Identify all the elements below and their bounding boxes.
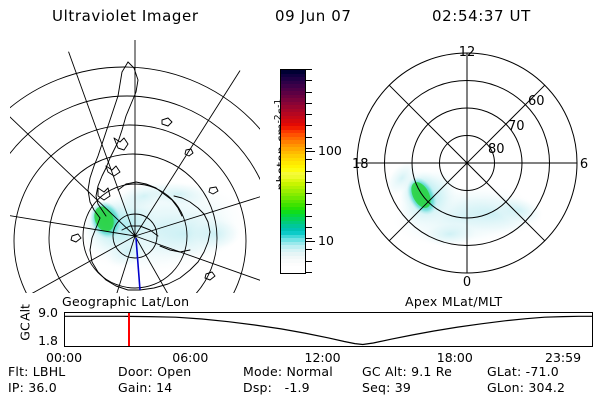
status-field-label: GLon: bbox=[487, 380, 528, 395]
colorbar-minor-tick bbox=[306, 238, 312, 239]
timeline-curve-svg bbox=[65, 313, 592, 346]
mlt-spokes bbox=[357, 53, 577, 273]
timeline-xtick-label: 12:00 bbox=[305, 350, 341, 365]
geographic-plot[interactable] bbox=[10, 38, 260, 293]
magnetic-plot-svg: 12 6 0 18 60 70 80 bbox=[342, 38, 592, 293]
status-field-label: Flt: bbox=[8, 364, 33, 379]
status-field-label: Mode: bbox=[243, 364, 286, 379]
colorbar-minor-tick bbox=[306, 103, 312, 104]
colorbar-minor-tick bbox=[306, 227, 312, 228]
status-field-label: IP: bbox=[8, 380, 28, 395]
status-field: GC Alt: 9.1 Re bbox=[362, 364, 452, 379]
colorbar-minor-tick bbox=[306, 159, 312, 160]
header-bar: Ultraviolet Imager 09 Jun 07 02:54:37 UT bbox=[0, 5, 600, 29]
colorbar-minor-tick bbox=[306, 80, 312, 81]
status-field: Gain: 14 bbox=[118, 380, 172, 395]
uv-imager-window: Ultraviolet Imager 09 Jun 07 02:54:37 UT bbox=[0, 0, 600, 400]
colorbar-minor-tick bbox=[306, 204, 312, 205]
colorbar-minor-tick bbox=[306, 69, 312, 70]
mlat-label-70: 70 bbox=[508, 119, 525, 134]
colorbar[interactable]: photon cm-2s-1 10010 bbox=[258, 45, 348, 295]
colorbar-minor-tick bbox=[306, 182, 312, 183]
timeline-ytick-low: 1.8 bbox=[28, 333, 58, 348]
status-field: GLat: -71.0 bbox=[487, 364, 559, 379]
timeline-xtick-label: 00:00 bbox=[46, 350, 82, 365]
timeline-ytick-high: 9.0 bbox=[28, 305, 58, 320]
status-field-value: -1.9 bbox=[276, 380, 310, 395]
colorbar-minor-tick bbox=[306, 272, 312, 273]
status-field-label: Seq: bbox=[362, 380, 395, 395]
mlt-label-0: 0 bbox=[463, 275, 471, 290]
colorbar-minor-tick bbox=[306, 114, 312, 115]
mlt-label-12: 12 bbox=[459, 45, 476, 60]
colorbar-tick-label: 100 bbox=[318, 143, 342, 158]
altitude-timeline[interactable]: Alt GC 9.0 1.8 00:0006:0012:0018:0023:59 bbox=[0, 300, 600, 358]
colorbar-segment bbox=[281, 270, 305, 274]
status-field-value: -71.0 bbox=[526, 364, 559, 379]
status-field-value: 36.0 bbox=[28, 380, 57, 395]
colorbar-minor-tick bbox=[306, 148, 312, 149]
geographic-plot-svg bbox=[10, 38, 260, 293]
colorbar-minor-tick bbox=[306, 216, 312, 217]
status-field: Flt: LBHL bbox=[8, 364, 65, 379]
status-field-label: Door: bbox=[118, 364, 157, 379]
colorbar-tick-label: 10 bbox=[318, 233, 334, 248]
status-field: Door: Open bbox=[118, 364, 191, 379]
status-field-value: 39 bbox=[395, 380, 411, 395]
mlt-label-6: 6 bbox=[580, 157, 588, 172]
status-bar: Flt: LBHLDoor: OpenMode: NormalGC Alt: 9… bbox=[0, 364, 600, 398]
status-field: GLon: 304.2 bbox=[487, 380, 565, 395]
mlat-label-80: 80 bbox=[488, 142, 505, 157]
colorbar-major-tick bbox=[306, 151, 315, 152]
colorbar-minor-tick bbox=[306, 261, 312, 262]
status-field: Mode: Normal bbox=[243, 364, 333, 379]
timeline-frame bbox=[64, 312, 593, 347]
status-field: Seq: 39 bbox=[362, 380, 411, 395]
colorbar-major-tick bbox=[306, 241, 315, 242]
status-field-label: Gain: bbox=[118, 380, 156, 395]
status-field-value: Open bbox=[157, 364, 191, 379]
status-field: Dsp: -1.9 bbox=[243, 380, 310, 395]
status-field-value: LBHL bbox=[33, 364, 66, 379]
mlt-label-18: 18 bbox=[352, 157, 369, 172]
colorbar-minor-tick bbox=[306, 92, 312, 93]
timeline-current-time-marker[interactable] bbox=[128, 313, 130, 346]
status-field-label: GLat: bbox=[487, 364, 526, 379]
colorbar-minor-tick bbox=[306, 171, 312, 172]
magnetic-plot[interactable]: 12 6 0 18 60 70 80 bbox=[342, 38, 592, 293]
colorbar-minor-tick bbox=[306, 137, 312, 138]
colorbar-minor-tick bbox=[306, 125, 312, 126]
colorbar-minor-tick bbox=[306, 193, 312, 194]
mlat-label-60: 60 bbox=[528, 94, 545, 109]
observation-date: 09 Jun 07 bbox=[275, 7, 352, 25]
status-field: IP: 36.0 bbox=[8, 380, 57, 395]
status-field-value: 9.1 Re bbox=[411, 364, 452, 379]
timeline-xtick-label: 06:00 bbox=[172, 350, 208, 365]
status-field-value: 304.2 bbox=[528, 380, 565, 395]
status-field-label: Dsp: bbox=[243, 380, 276, 395]
status-field-value: 14 bbox=[156, 380, 172, 395]
colorbar-gradient bbox=[280, 69, 306, 274]
status-field-label: GC Alt: bbox=[362, 364, 411, 379]
page-title: Ultraviolet Imager bbox=[52, 7, 199, 25]
observation-time: 02:54:37 UT bbox=[432, 7, 531, 25]
timeline-xtick-label: 18:00 bbox=[437, 350, 473, 365]
timeline-xtick-label: 23:59 bbox=[545, 350, 581, 365]
colorbar-minor-tick bbox=[306, 249, 312, 250]
gc-altitude-curve bbox=[65, 316, 592, 344]
status-field-value: Normal bbox=[286, 364, 332, 379]
